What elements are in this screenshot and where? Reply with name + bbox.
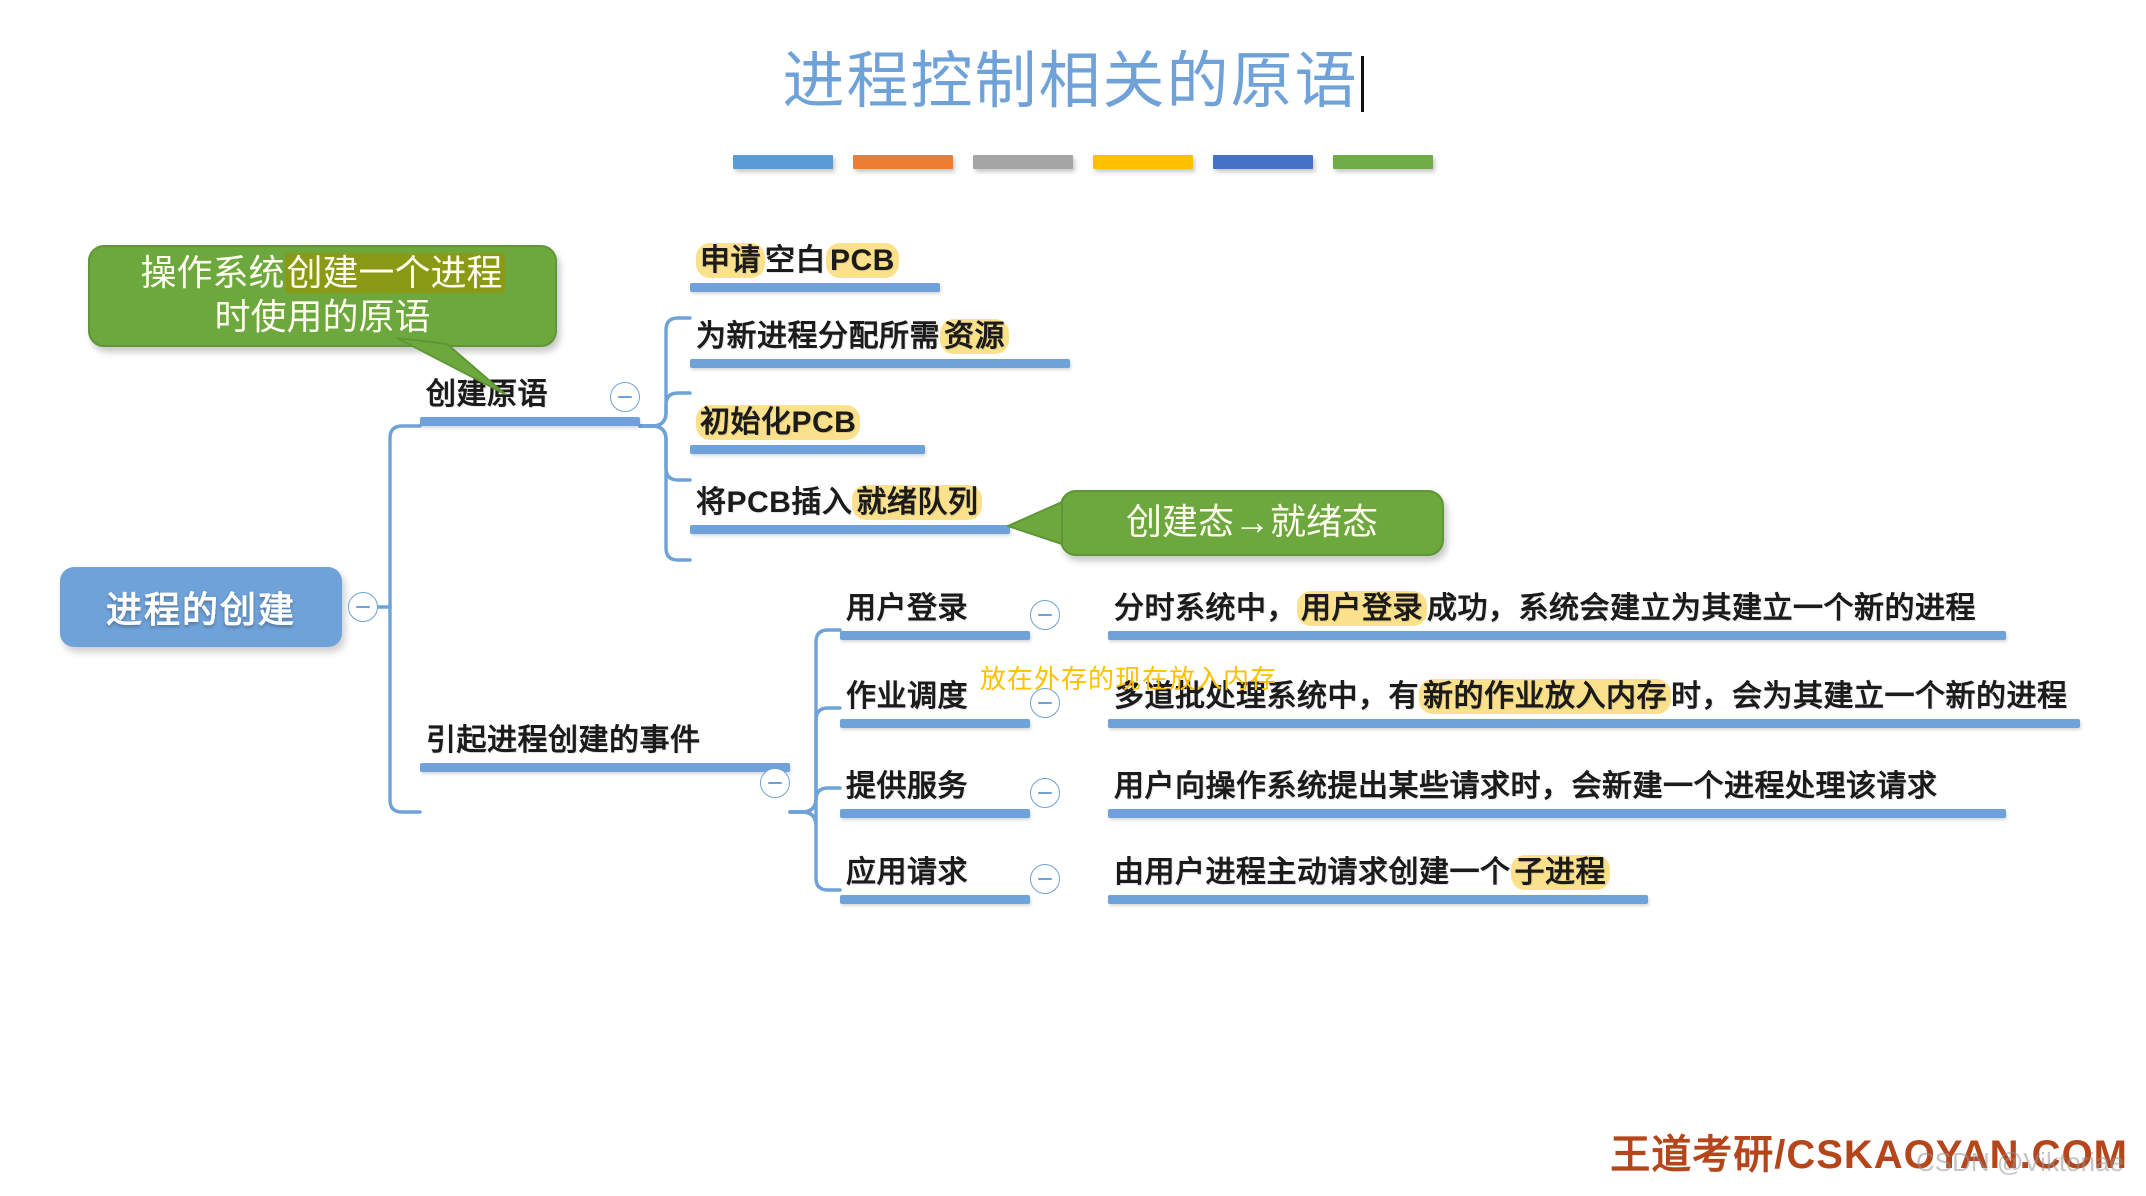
node-underline	[690, 525, 1010, 534]
chip-gray	[973, 155, 1073, 169]
collapse-toggle-provide-service[interactable]	[1030, 778, 1060, 808]
collapse-toggle-creation-events[interactable]	[760, 768, 790, 798]
node-underline	[840, 809, 1030, 818]
callout-line1-pre: 操作系统	[140, 253, 284, 293]
chip-gold	[1093, 155, 1193, 169]
leaf-node-insert-ready-queue[interactable]: 将PCB插入就绪队列	[690, 486, 1010, 534]
plain-run: 将PCB插入	[696, 486, 852, 519]
branch-node-creation-events-label: 引起进程创建的事件	[420, 724, 790, 763]
collapse-toggle-create-primitive[interactable]	[610, 382, 640, 412]
event-node-provide-service[interactable]: 提供服务	[840, 770, 1030, 818]
chip-darkblue	[1213, 155, 1313, 169]
callout-line2: 时使用的原语	[214, 297, 430, 337]
node-underline	[420, 417, 640, 426]
leaf-node-apply-blank-pcb[interactable]: 申请空白PCB	[690, 244, 940, 292]
leaf-node-apply-blank-pcb-label: 申请空白PCB	[690, 244, 940, 283]
leaf-node-allocate-resources-label: 为新进程分配所需资源	[690, 320, 1070, 359]
event-node-provide-service-label: 提供服务	[840, 770, 1030, 809]
highlighted-run: 新的作业放入内存	[1419, 679, 1671, 714]
leaf-node-init-pcb-label: 初始化PCB	[690, 406, 925, 445]
plain-run: 空白	[765, 244, 826, 277]
node-underline	[690, 359, 1070, 368]
node-underline	[840, 895, 1030, 904]
callout-create-primitive[interactable]: 操作系统创建一个进程 时使用的原语	[88, 245, 557, 347]
callout-create-primitive-tail	[395, 336, 525, 400]
detail-node-provide-service[interactable]: 用户向操作系统提出某些请求时，会新建一个进程处理该请求	[1108, 770, 2006, 818]
highlighted-run: 初始化PCB	[696, 405, 860, 440]
leaf-node-insert-ready-queue-label: 将PCB插入就绪队列	[690, 486, 1010, 525]
callout-state-transition-tail	[1006, 500, 1066, 548]
text-caret	[1361, 56, 1364, 112]
highlighted-run: PCB	[826, 243, 899, 278]
node-underline	[840, 631, 1030, 640]
node-underline	[420, 763, 790, 772]
csdn-watermark: CSDN @Viktoriae	[1916, 1147, 2124, 1178]
plain-run: 为新进程分配所需	[696, 320, 940, 353]
event-node-application-request[interactable]: 应用请求	[840, 856, 1030, 904]
node-underline	[1108, 631, 2006, 640]
chip-orange	[853, 155, 953, 169]
callout-create-primitive-text: 操作系统创建一个进程 时使用的原语	[126, 248, 518, 344]
detail-node-provide-service-text: 用户向操作系统提出某些请求时，会新建一个进程处理该请求	[1108, 770, 2006, 809]
node-underline	[690, 445, 925, 454]
plain-run: 由用户进程主动请求创建一个	[1114, 856, 1511, 889]
collapse-toggle-application-request[interactable]	[1030, 864, 1060, 894]
color-bar-strip	[733, 155, 1433, 169]
collapse-toggle-root[interactable]	[348, 592, 378, 622]
node-underline	[840, 719, 1030, 728]
detail-node-application-request[interactable]: 由用户进程主动请求创建一个子进程	[1108, 856, 1648, 904]
plain-run: 用户向操作系统提出某些请求时，会新建一个进程处理该请求	[1114, 770, 1938, 803]
chip-blue	[733, 155, 833, 169]
event-node-user-login-label: 用户登录	[840, 592, 1030, 631]
plain-run: 成功，系统会建立为其建立一个新的进程	[1427, 592, 1976, 625]
detail-node-user-login-text: 分时系统中，用户登录成功，系统会建立为其建立一个新的进程	[1108, 592, 2006, 631]
collapse-toggle-user-login[interactable]	[1030, 600, 1060, 630]
plain-run: 时，会为其建立一个新的进程	[1671, 680, 2068, 713]
page-title-text: 进程控制相关的原语	[782, 48, 1358, 116]
node-underline	[1108, 809, 2006, 818]
node-underline	[690, 283, 940, 292]
detail-node-application-request-text: 由用户进程主动请求创建一个子进程	[1108, 856, 1648, 895]
highlighted-run: 申请	[696, 243, 765, 278]
node-underline	[1108, 719, 2080, 728]
detail-node-user-login[interactable]: 分时系统中，用户登录成功，系统会建立为其建立一个新的进程	[1108, 592, 2006, 640]
event-node-application-request-label: 应用请求	[840, 856, 1030, 895]
highlighted-run: 用户登录	[1297, 591, 1427, 626]
highlighted-run: 就绪队列	[852, 485, 982, 520]
root-node-label: 进程的创建	[106, 581, 296, 633]
leaf-node-allocate-resources[interactable]: 为新进程分配所需资源	[690, 320, 1070, 368]
root-node[interactable]: 进程的创建	[60, 567, 342, 647]
plain-run: 分时系统中，	[1114, 592, 1297, 625]
event-node-user-login[interactable]: 用户登录	[840, 592, 1030, 640]
leaf-node-init-pcb[interactable]: 初始化PCB	[690, 406, 925, 454]
branch-node-creation-events[interactable]: 引起进程创建的事件	[420, 724, 790, 772]
page-title: 进程控制相关的原语	[0, 30, 2146, 120]
highlighted-run: 子进程	[1511, 855, 1611, 890]
node-underline	[1108, 895, 1648, 904]
callout-line1-highlight: 创建一个进程	[285, 253, 505, 293]
annotation-memory-note: 放在外存的现在放入内存	[980, 659, 1277, 696]
callout-state-transition[interactable]: 创建态→就绪态	[1060, 490, 1444, 556]
chip-green	[1333, 155, 1433, 169]
slide-canvas: 进程控制相关的原语 进程的创建	[0, 0, 2146, 1196]
highlighted-run: 资源	[940, 319, 1009, 354]
callout-state-transition-text: 创建态→就绪态	[1112, 497, 1392, 549]
